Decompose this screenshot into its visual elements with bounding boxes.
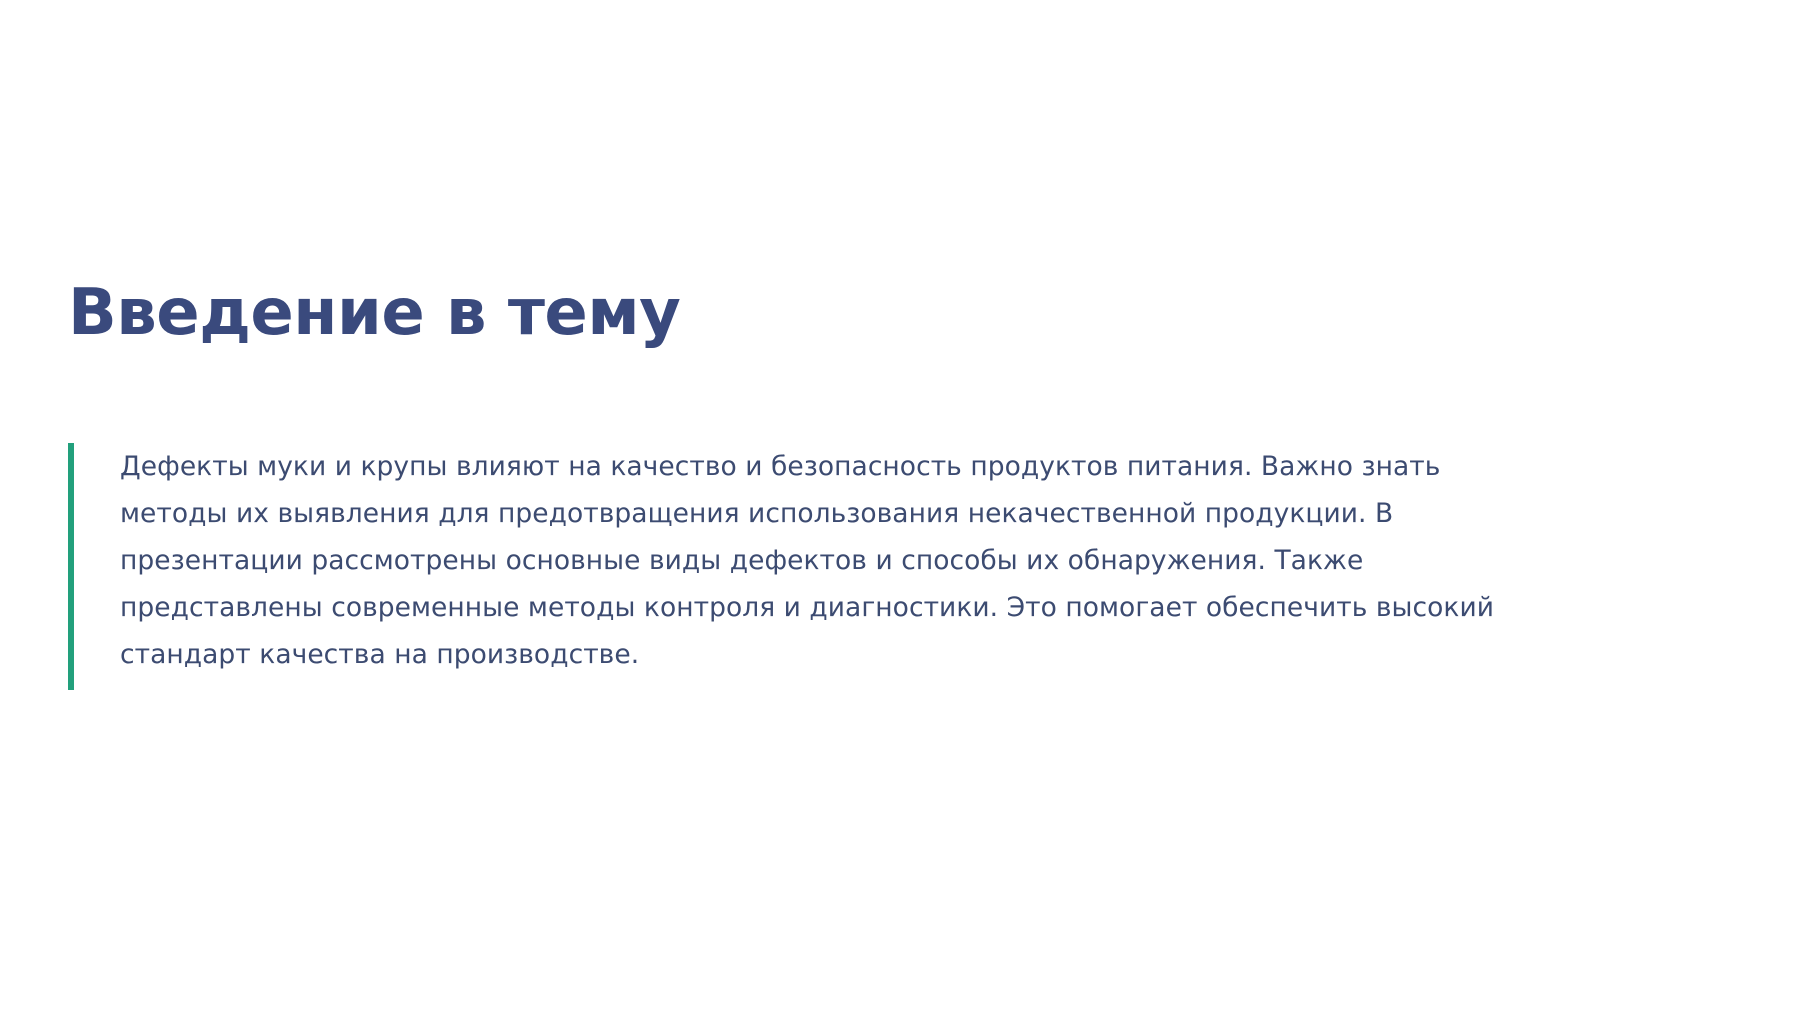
body-content-block: Дефекты муки и крупы влияют на качество … <box>68 443 1518 690</box>
page-title: Введение в тему <box>68 277 680 349</box>
body-paragraph: Дефекты муки и крупы влияют на качество … <box>74 443 1518 690</box>
presentation-slide: Введение в тему Дефекты муки и крупы вли… <box>0 0 1800 1013</box>
